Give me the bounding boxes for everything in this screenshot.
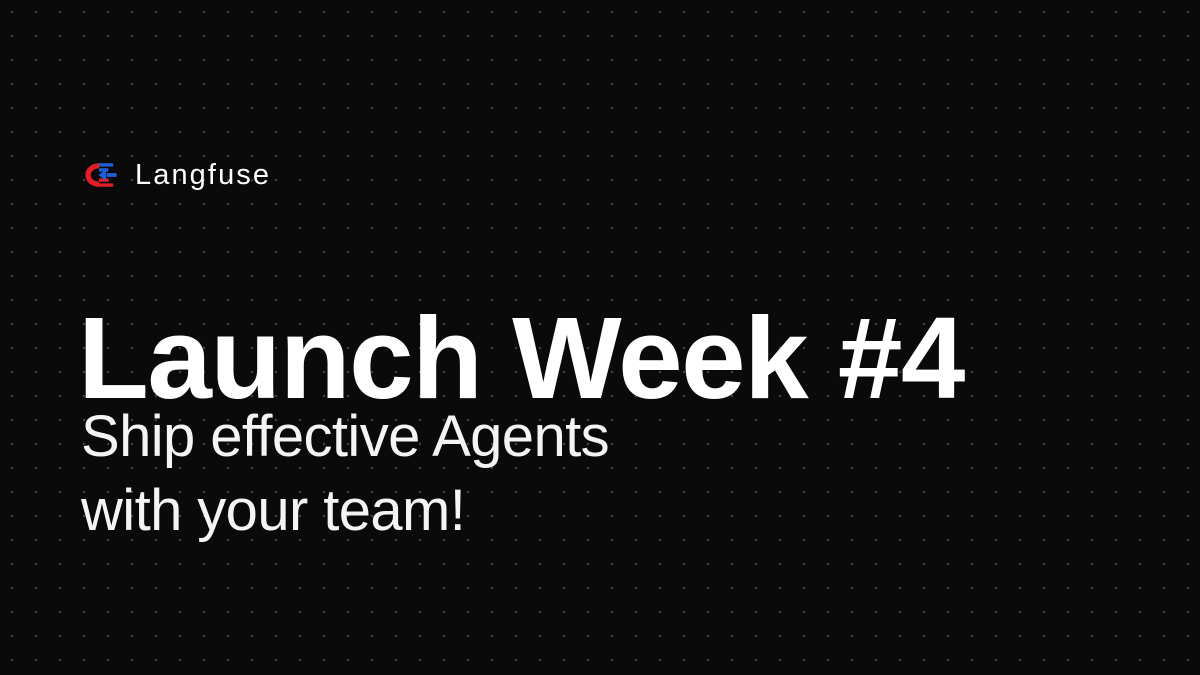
subtitle-line-2: with your team!	[81, 474, 609, 548]
subtitle-line-1: Ship effective Agents	[81, 400, 609, 474]
hero-subtitle: Ship effective Agents with your team!	[81, 400, 609, 548]
langfuse-logo-icon	[82, 160, 120, 190]
banner-canvas: Langfuse Launch Week #4 Ship effective A…	[0, 0, 1200, 675]
brand-lockup: Langfuse	[82, 155, 271, 195]
content-container: Langfuse Launch Week #4 Ship effective A…	[82, 0, 1162, 675]
brand-wordmark: Langfuse	[135, 161, 271, 190]
